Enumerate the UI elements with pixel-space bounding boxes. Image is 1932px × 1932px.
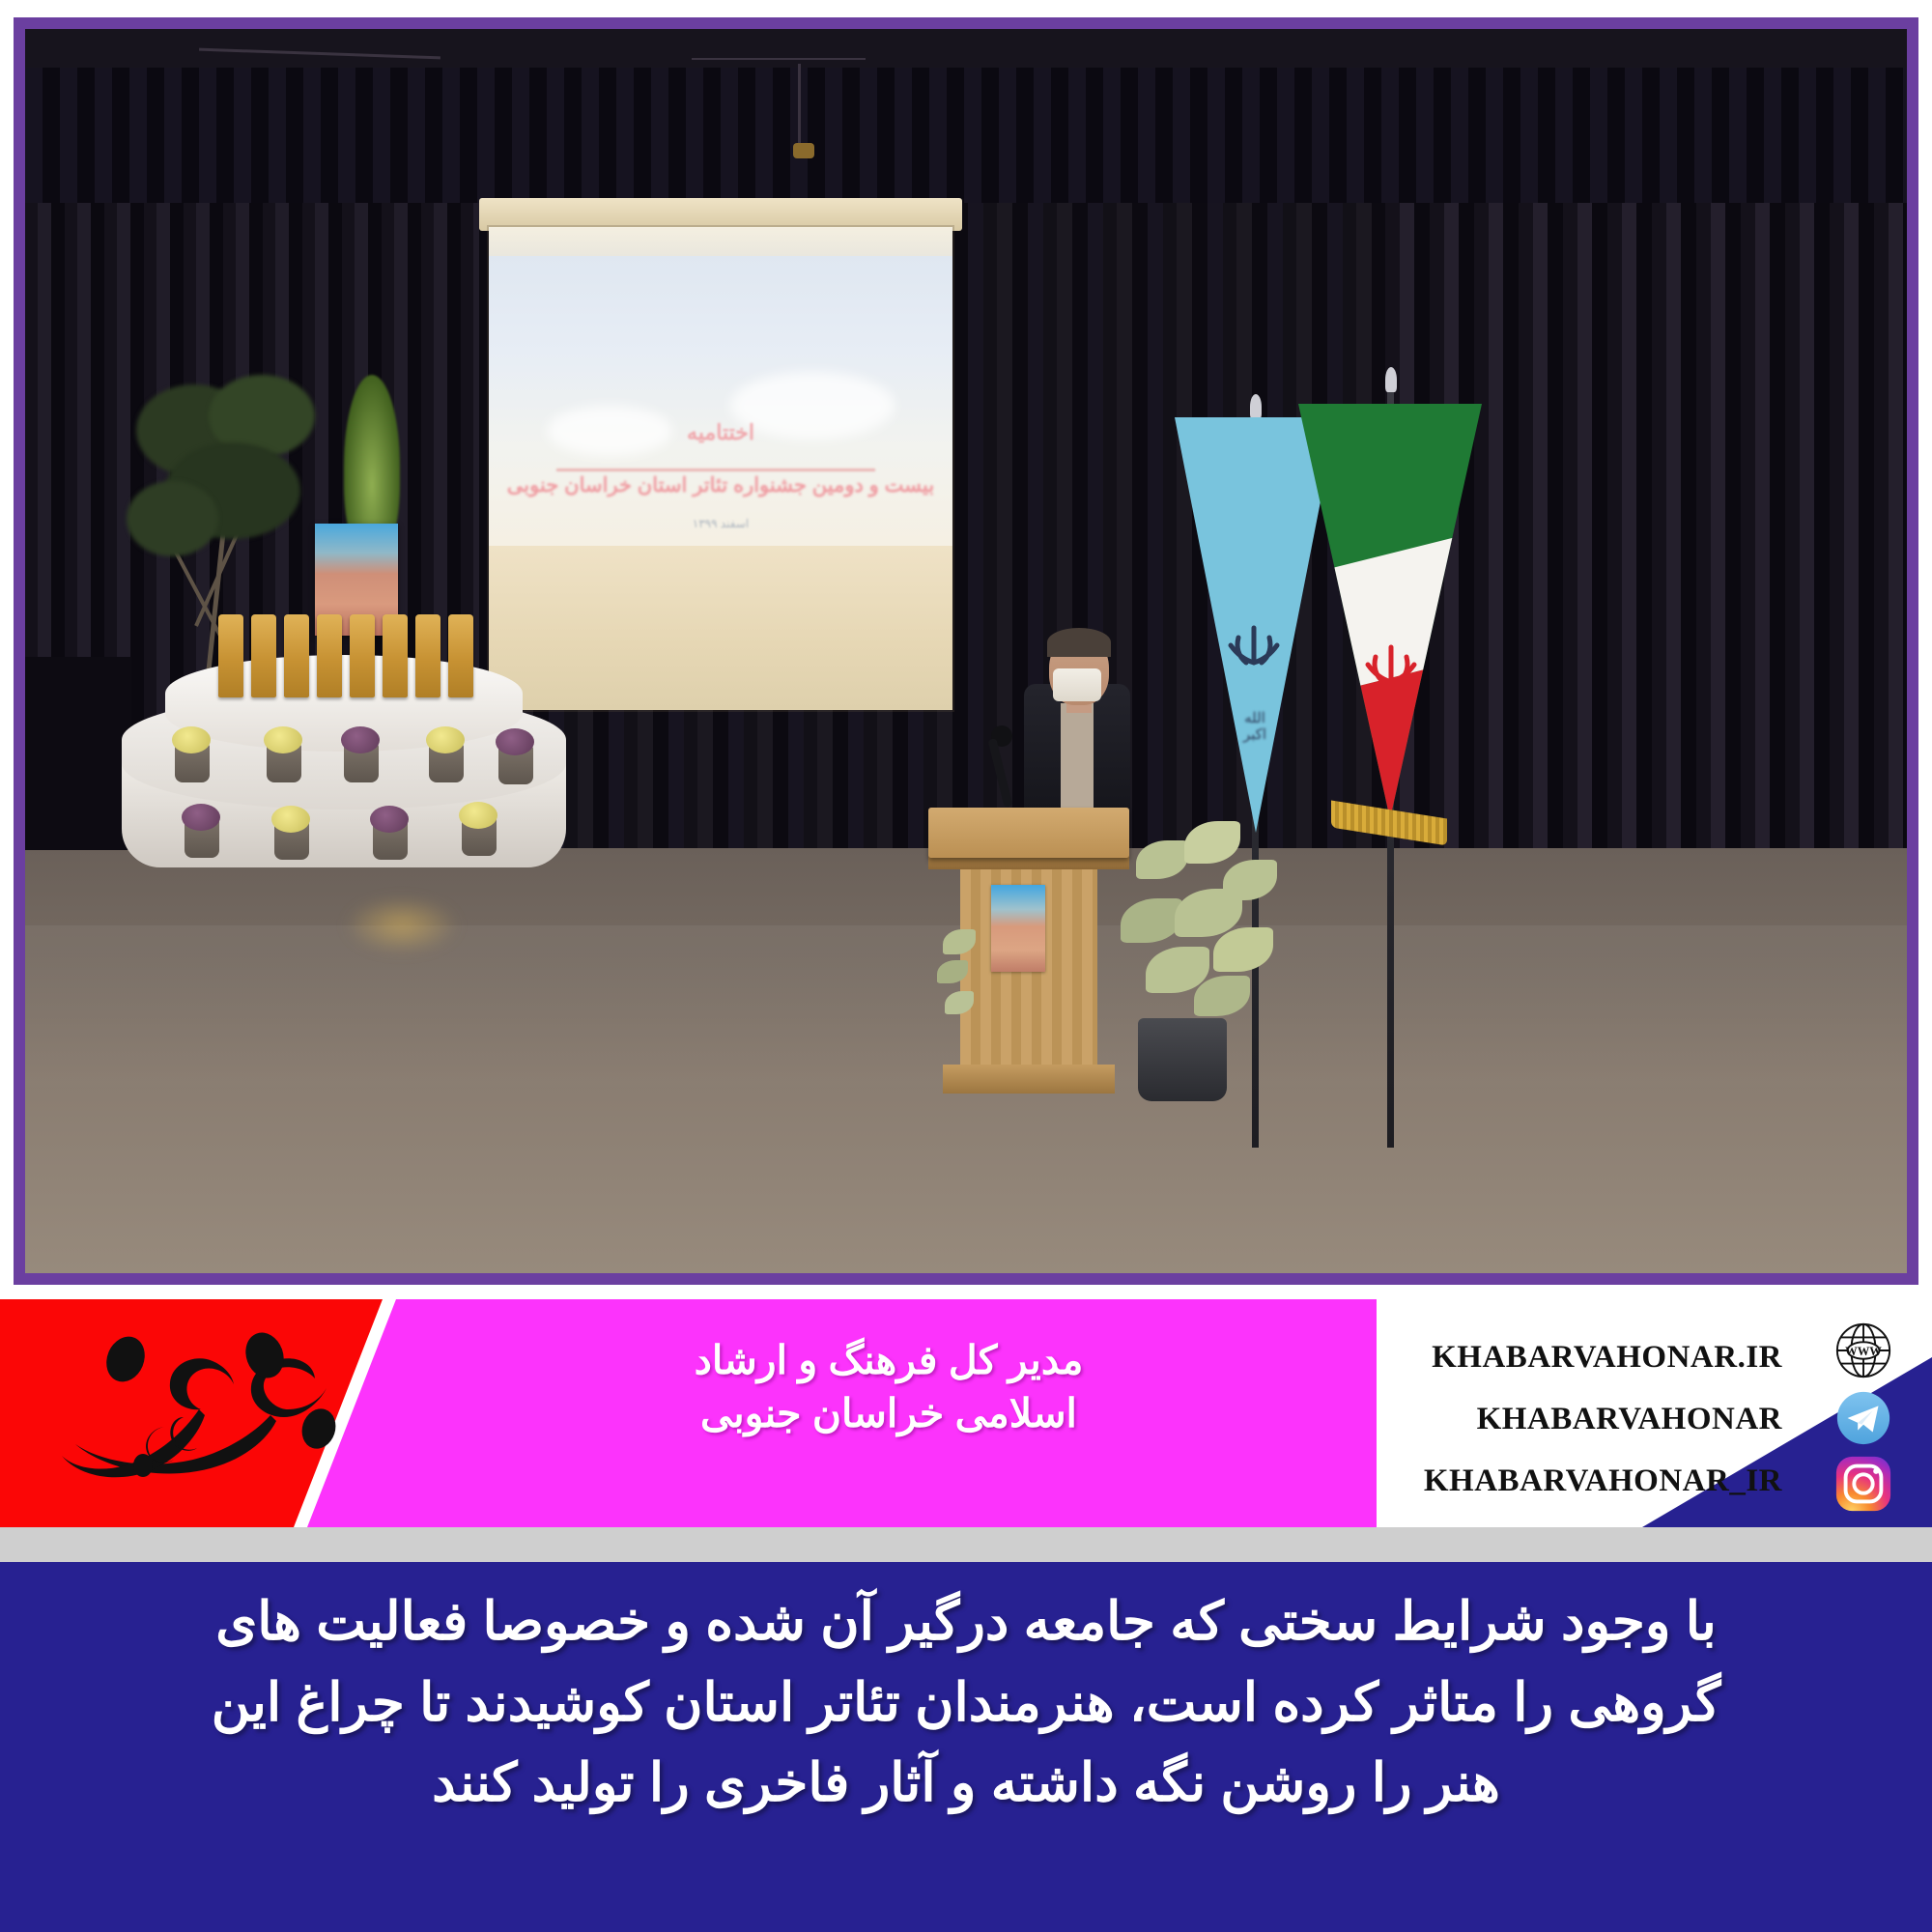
instagram-label: KHABARVAHONAR_IR <box>1424 1463 1782 1499</box>
banner-caption: مدیر کل فرهنگ و ارشاد اسلامی خراسان جنوب… <box>618 1334 1159 1441</box>
banner-caption-line-1: مدیر کل فرهنگ و ارشاد <box>618 1334 1159 1387</box>
quote-line-3: هنر را روشن نگه داشته و آثار فاخری را تو… <box>39 1743 1893 1824</box>
podium-base <box>943 1065 1115 1094</box>
plant-leaf <box>1194 976 1250 1016</box>
instagram-icon[interactable] <box>1833 1454 1893 1514</box>
ceiling-wire-2 <box>692 58 866 60</box>
podium-poster <box>991 885 1045 972</box>
poster-root: اختتامیه بیست و دومین جشنواره تئاتر استا… <box>0 0 1932 1932</box>
flower-bloom <box>271 806 310 833</box>
plant-leaf <box>1213 927 1273 972</box>
trophy <box>448 614 473 697</box>
khabar-va-honar-logo[interactable] <box>29 1321 348 1504</box>
svg-text:WWW: WWW <box>1845 1345 1882 1358</box>
plant-leaf <box>1136 840 1188 879</box>
flower-bloom <box>264 726 302 753</box>
screen-subtitle-text: بیست و دومین جشنواره تئاتر استان خراسان … <box>489 473 952 497</box>
trophy <box>383 614 408 697</box>
quote-line-2: گروهی را متاثر کرده است، هنرمندان تئاتر … <box>39 1662 1893 1744</box>
flower-bloom <box>172 726 211 753</box>
iran-emblem-on-blue-flag <box>1223 618 1285 674</box>
ceiling-band <box>25 29 1907 68</box>
flower-bloom <box>496 728 534 755</box>
plant-leaf <box>1184 821 1240 864</box>
globe-www-icon[interactable]: WWW <box>1833 1321 1893 1380</box>
trophy <box>350 614 375 697</box>
trophy <box>218 614 243 697</box>
iran-emblem-on-national-flag <box>1360 638 1422 694</box>
banner-caption-line-2: اسلامی خراسان جنوبی <box>618 1387 1159 1440</box>
trophy <box>251 614 276 697</box>
trophy <box>415 614 440 697</box>
contact-row-telegram[interactable]: KHABARVAHONAR <box>1367 1388 1782 1450</box>
website-label: KHABARVAHONAR.IR <box>1432 1340 1782 1376</box>
screen-date-text: اسفند ۱۳۹۹ <box>489 517 952 530</box>
speaker-shirt <box>1061 703 1094 810</box>
ceiling-wire-4 <box>793 143 814 158</box>
gray-divider <box>0 1527 1932 1562</box>
event-photo: اختتامیه بیست و دومین جشنواره تئاتر استا… <box>25 29 1907 1273</box>
flower-bloom <box>370 806 409 833</box>
flower-bloom <box>426 726 465 753</box>
telegram-icon[interactable] <box>1833 1388 1893 1448</box>
contact-row-instagram[interactable]: KHABARVAHONAR_IR <box>1367 1450 1782 1512</box>
projector-screen-roller <box>479 198 962 231</box>
screen-dune-background <box>489 546 952 710</box>
flag-finial-blue <box>1250 394 1262 419</box>
projector-screen: اختتامیه بیست و دومین جشنواره تئاتر استا… <box>489 227 952 710</box>
flag-finial-iran <box>1385 367 1397 392</box>
trophy <box>317 614 342 697</box>
flower-bloom <box>182 804 220 831</box>
trophy <box>284 614 309 697</box>
speaker-hair <box>1047 628 1111 657</box>
blue-flag-inscription: الله اکبر <box>1233 711 1277 752</box>
quote-text: با وجود شرایط سختی که جامعه درگیر آن شده… <box>39 1581 1893 1824</box>
flower-bloom <box>459 802 497 829</box>
decor-plant-right <box>1107 811 1291 1101</box>
podium-top <box>928 808 1129 858</box>
screen-divider-line <box>556 469 875 471</box>
screen-title-text: اختتامیه <box>489 420 952 445</box>
plant-leaf <box>1121 898 1182 943</box>
ceiling-wire-3 <box>798 64 801 151</box>
quote-block: با وجود شرایط سختی که جامعه درگیر آن شده… <box>0 1562 1932 1932</box>
stage-left-shadow <box>25 657 131 850</box>
flower-bloom <box>341 726 380 753</box>
contact-list: KHABARVAHONAR.IR KHABARVAHONAR KHABARVAH… <box>1367 1326 1782 1512</box>
quote-line-1: با وجود شرایط سختی که جامعه درگیر آن شده… <box>39 1581 1893 1662</box>
tree-foliage-4 <box>127 481 218 556</box>
contact-row-website[interactable]: KHABARVAHONAR.IR <box>1367 1326 1782 1388</box>
event-photo-frame: اختتامیه بیست و دومین جشنواره تئاتر استا… <box>14 17 1918 1285</box>
stage-floor-light-reflection <box>344 896 460 954</box>
telegram-label: KHABARVAHONAR <box>1477 1402 1782 1437</box>
brand-banner: مدیر کل فرهنگ و ارشاد اسلامی خراسان جنوب… <box>0 1299 1932 1527</box>
speaker-face-mask <box>1053 668 1101 701</box>
